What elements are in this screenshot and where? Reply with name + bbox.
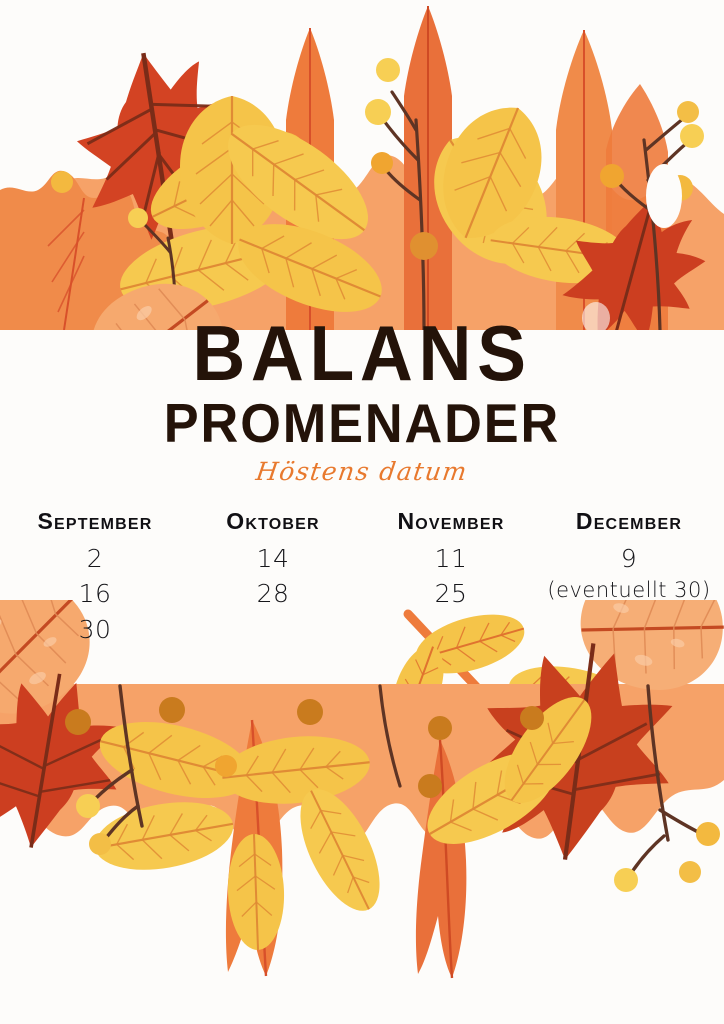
month-column-september: September 2 16 30	[6, 508, 184, 648]
date-list: 2 16 30	[6, 541, 184, 648]
month-header: December	[540, 508, 718, 535]
date-list: 14 28	[184, 541, 362, 612]
month-column-november: November 11 25	[362, 508, 540, 648]
month-column-december: December 9 (eventuellt 30)	[540, 508, 718, 648]
autumn-walks-poster: BALANS PROMENADER Höstens datum Septembe…	[0, 0, 724, 1024]
schedule-grid: September 2 16 30 Oktober 14 28 November…	[0, 508, 724, 648]
page-subtitle: PROMENADER	[18, 396, 706, 451]
date-note: (eventuellt 30)	[540, 576, 718, 606]
date-item: 2	[6, 541, 184, 577]
month-column-oktober: Oktober 14 28	[184, 508, 362, 648]
month-header: November	[362, 508, 540, 535]
title-block: BALANS PROMENADER Höstens datum	[0, 318, 724, 486]
autumn-leaves-bottom-border	[0, 600, 724, 1024]
page-title: BALANS	[22, 318, 703, 390]
date-list: 9 (eventuellt 30)	[540, 541, 718, 606]
date-item: 28	[184, 576, 362, 612]
autumn-leaves-top-border	[0, 0, 724, 330]
date-item: 30	[6, 612, 184, 648]
date-item: 11	[362, 541, 540, 577]
month-header: Oktober	[184, 508, 362, 535]
date-item: 16	[6, 576, 184, 612]
script-tagline: Höstens datum	[0, 457, 724, 486]
date-item: 25	[362, 576, 540, 612]
date-list: 11 25	[362, 541, 540, 612]
month-header: September	[6, 508, 184, 535]
poster-content: BALANS PROMENADER Höstens datum Septembe…	[0, 318, 724, 647]
date-item: 14	[184, 541, 362, 577]
date-item: 9	[540, 541, 718, 577]
